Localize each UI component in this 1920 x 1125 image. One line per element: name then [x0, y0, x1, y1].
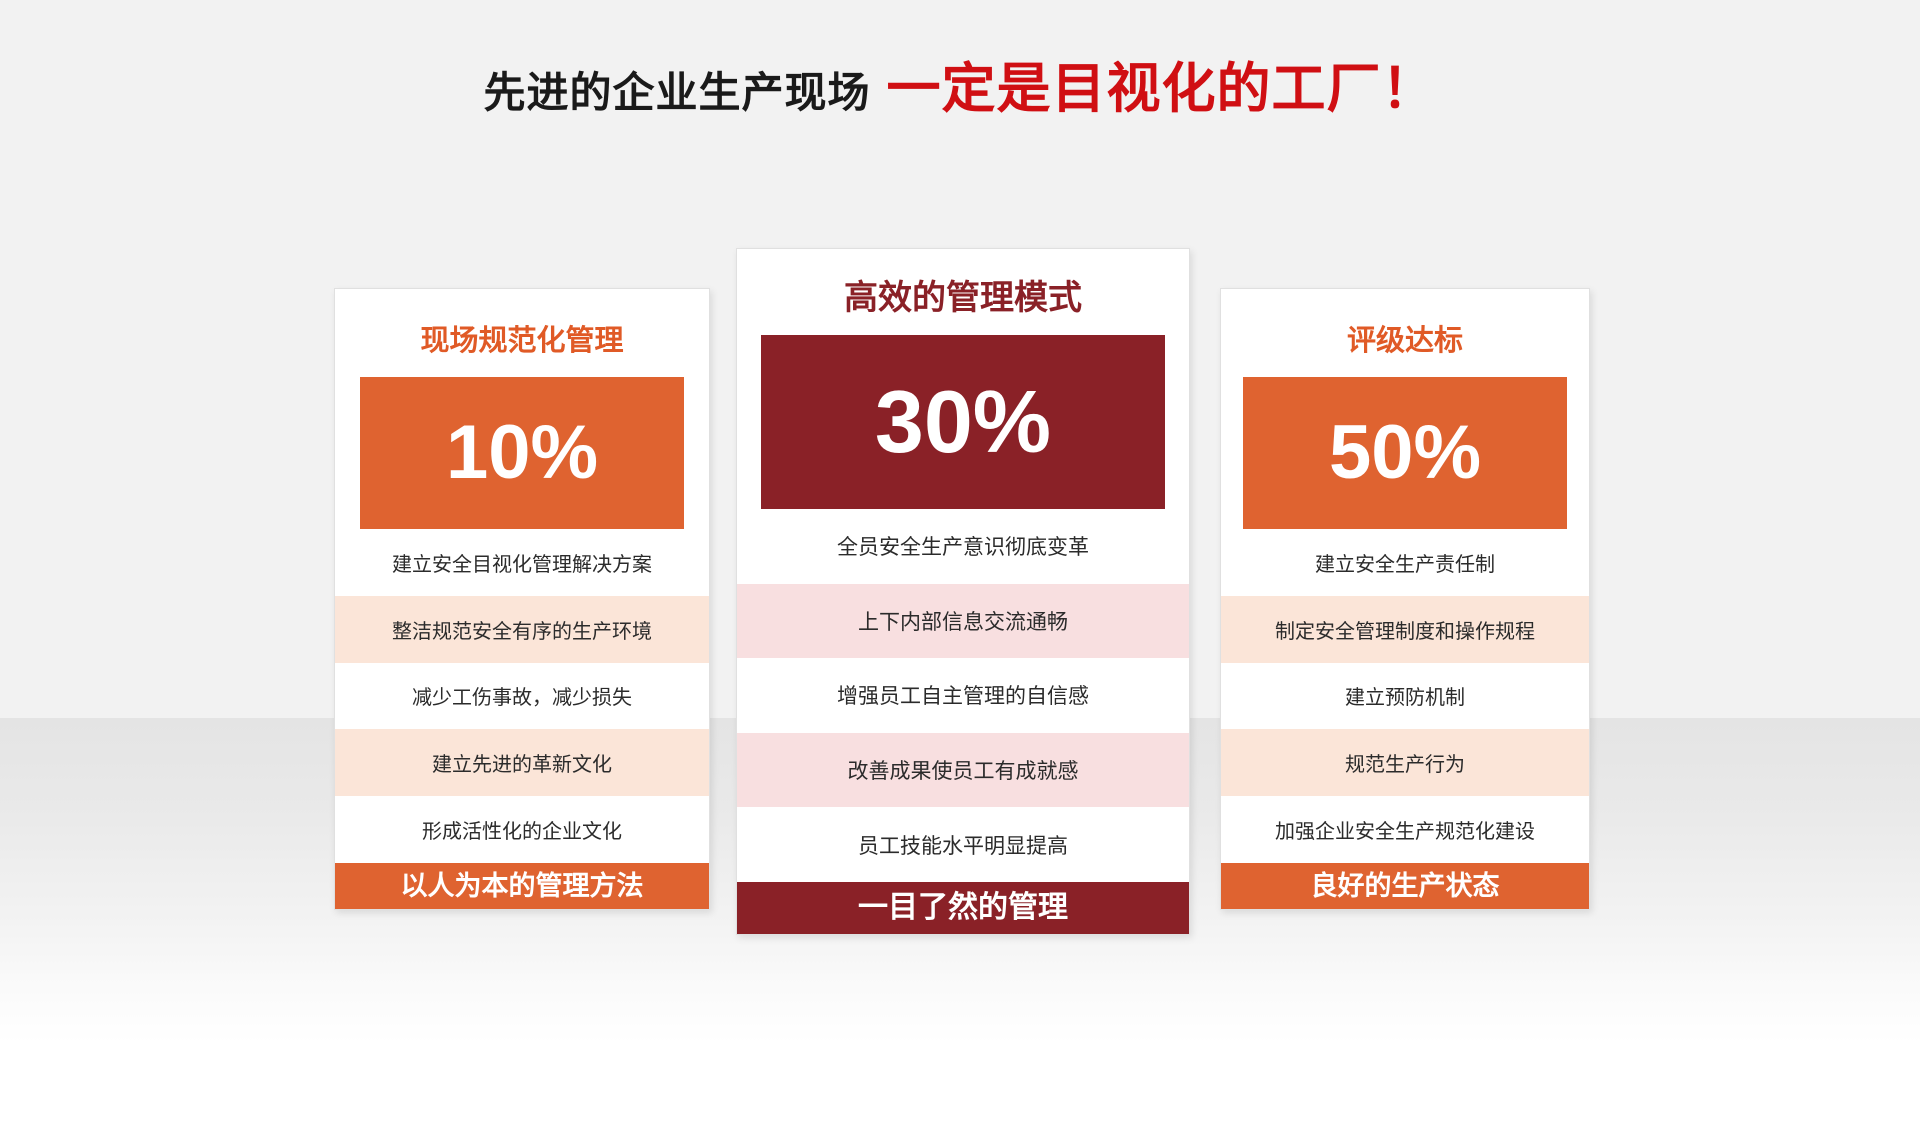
list-item: 员工技能水平明显提高	[737, 807, 1189, 882]
percent-value: 30%	[875, 378, 1051, 466]
benefit-list: 建立安全生产责任制 制定安全管理制度和操作规程 建立预防机制 规范生产行为 加强…	[1221, 529, 1589, 863]
list-item: 减少工伤事故，减少损失	[335, 663, 709, 730]
page-title: 先进的企业生产现场一定是目视化的工厂！	[0, 62, 1920, 116]
list-item: 加强企业安全生产规范化建设	[1221, 796, 1589, 863]
list-item: 建立预防机制	[1221, 663, 1589, 730]
card-site-standardization[interactable]: 现场规范化管理 10% 建立安全目视化管理解决方案 整洁规范安全有序的生产环境 …	[334, 288, 710, 910]
list-item: 整洁规范安全有序的生产环境	[335, 596, 709, 663]
card-title: 现场规范化管理	[335, 327, 709, 356]
percent-block: 10%	[360, 377, 684, 529]
list-item: 建立先进的革新文化	[335, 729, 709, 796]
list-item: 制定安全管理制度和操作规程	[1221, 596, 1589, 663]
card-footer-banner: 良好的生产状态	[1221, 863, 1589, 909]
card-title: 高效的管理模式	[737, 281, 1189, 315]
benefit-list: 建立安全目视化管理解决方案 整洁规范安全有序的生产环境 减少工伤事故，减少损失 …	[335, 529, 709, 863]
list-item: 规范生产行为	[1221, 729, 1589, 796]
list-item: 形成活性化的企业文化	[335, 796, 709, 863]
card-title: 评级达标	[1221, 327, 1589, 356]
list-item: 增强员工自主管理的自信感	[737, 658, 1189, 733]
page-title-black-part: 先进的企业生产现场	[483, 69, 870, 116]
card-footer-banner: 一目了然的管理	[737, 882, 1189, 934]
card-rating-compliance[interactable]: 评级达标 50% 建立安全生产责任制 制定安全管理制度和操作规程 建立预防机制 …	[1220, 288, 1590, 910]
percent-value: 50%	[1329, 415, 1481, 491]
card-footer-banner: 以人为本的管理方法	[335, 863, 709, 909]
percent-block: 50%	[1243, 377, 1567, 529]
list-item: 改善成果使员工有成就感	[737, 733, 1189, 808]
list-item: 建立安全生产责任制	[1221, 529, 1589, 596]
page-title-red-part: 一定是目视化的工厂！	[887, 59, 1437, 119]
card-efficient-management[interactable]: 高效的管理模式 30% 全员安全生产意识彻底变革 上下内部信息交流通畅 增强员工…	[736, 248, 1190, 935]
list-item: 上下内部信息交流通畅	[737, 584, 1189, 659]
percent-block: 30%	[761, 335, 1165, 509]
benefit-list: 全员安全生产意识彻底变革 上下内部信息交流通畅 增强员工自主管理的自信感 改善成…	[737, 509, 1189, 882]
percent-value: 10%	[446, 415, 598, 491]
list-item: 建立安全目视化管理解决方案	[335, 529, 709, 596]
list-item: 全员安全生产意识彻底变革	[737, 509, 1189, 584]
